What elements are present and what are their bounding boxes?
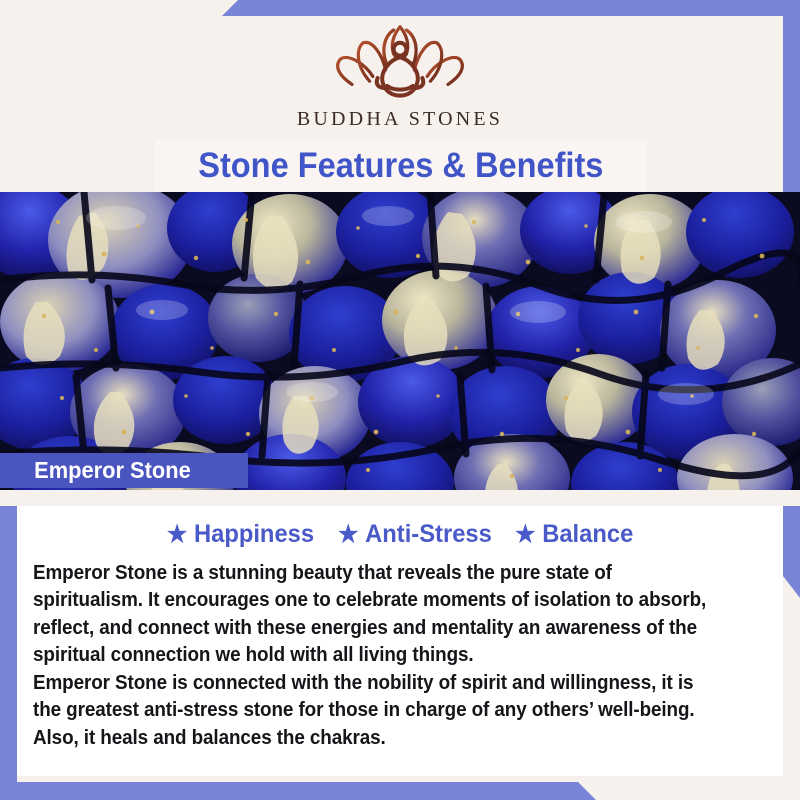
benefit-item-balance: ★ Balance — [515, 520, 633, 549]
description-paragraph-1: Emperor Stone is a stunning beauty that … — [33, 559, 708, 669]
frame-bottom-border — [0, 782, 800, 800]
title-band: Stone Features & Benefits — [155, 140, 647, 192]
brand-header: BUDDHA STONES — [0, 0, 800, 145]
page-title: Stone Features & Benefits — [198, 146, 603, 186]
stone-name-label: Emperor Stone — [34, 457, 191, 484]
benefit-item-happiness: ★ Happiness — [167, 520, 314, 549]
brand-name: BUDDHA STONES — [297, 108, 503, 131]
description-text: Emperor Stone is a stunning beauty that … — [25, 559, 775, 751]
lapis-lazuli-tumbled-stones-photo — [0, 192, 800, 490]
star-icon: ★ — [338, 523, 358, 547]
star-icon: ★ — [167, 523, 187, 547]
lotus-meditation-figure-icon — [320, 22, 480, 104]
cream-divider-strip — [0, 490, 800, 506]
benefits-row: ★ Happiness ★ Anti-Stress ★ Balance — [25, 520, 775, 549]
description-panel: ★ Happiness ★ Anti-Stress ★ Balance Empe… — [17, 506, 783, 776]
benefit-label: Balance — [542, 520, 633, 549]
infographic-page: BUDDHA STONES Stone Features & Benefits — [0, 0, 800, 800]
description-paragraph-2: Emperor Stone is connected with the nobi… — [33, 669, 708, 751]
benefit-label: Anti-Stress — [365, 520, 492, 549]
benefit-label: Happiness — [194, 520, 314, 549]
stone-name-badge: Emperor Stone — [0, 453, 248, 488]
star-icon: ★ — [515, 523, 535, 547]
benefit-item-anti-stress: ★ Anti-Stress — [338, 520, 492, 549]
